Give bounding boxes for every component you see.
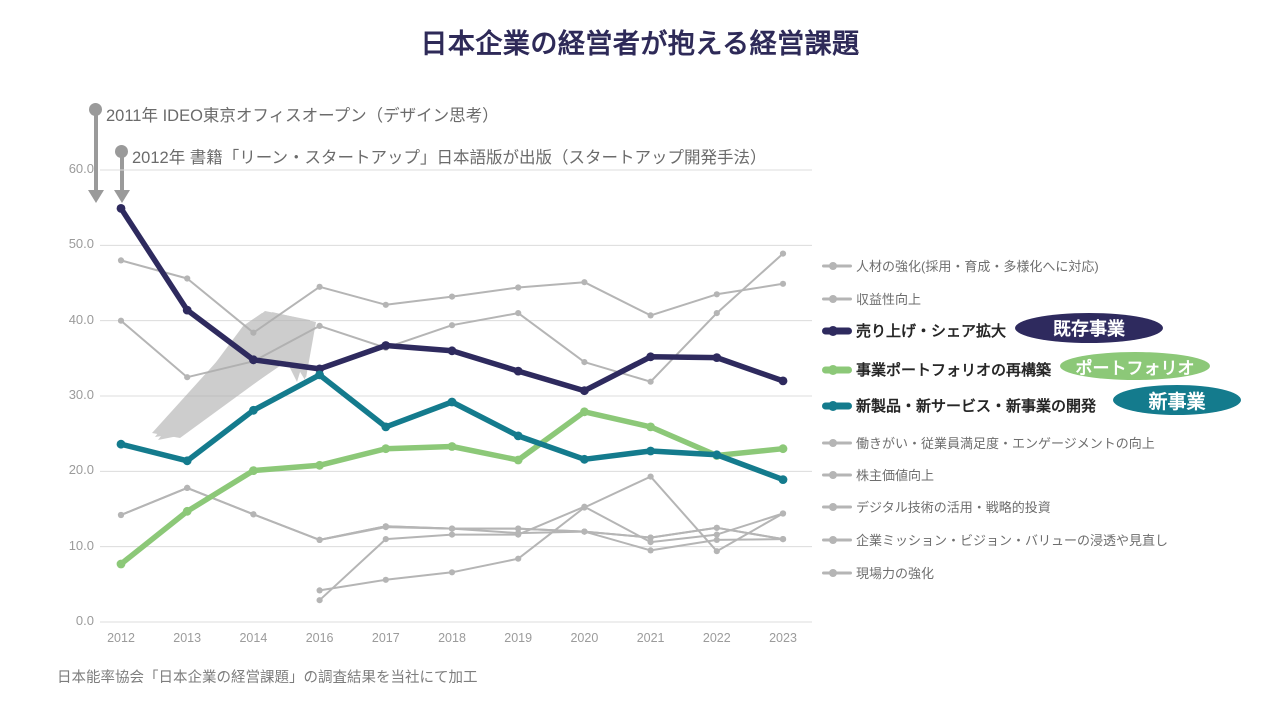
legend-item-kabunushi[interactable]: 株主価値向上 (822, 465, 934, 484)
legend-item-portfolio[interactable]: 事業ポートフォリオの再構築 (822, 359, 1051, 380)
legend-marker-icon (822, 566, 852, 580)
source-footnote: 日本能率協会「日本企業の経営課題」の調査結果を当社にて加工 (57, 666, 478, 687)
y-axis-tick-label: 20.0 (46, 462, 94, 477)
y-axis-tick-label: 40.0 (46, 312, 94, 327)
x-axis-tick-label: 2023 (753, 631, 813, 645)
x-axis-tick-label: 2020 (554, 631, 614, 645)
legend-item-genba[interactable]: 現場力の強化 (822, 563, 934, 582)
badge-portfolio: ポートフォリオ (1060, 352, 1210, 380)
legend-marker-icon (822, 399, 852, 413)
legend-item-label: 現場力の強化 (856, 563, 934, 582)
y-axis-tick-label: 0.0 (46, 613, 94, 628)
legend-marker-icon (822, 533, 852, 547)
x-axis-tick-label: 2018 (422, 631, 482, 645)
legend-item-label: 収益性向上 (856, 289, 921, 308)
legend-item-label: 働きがい・従業員満足度・エンゲージメントの向上 (856, 433, 1155, 452)
x-axis-tick-label: 2019 (488, 631, 548, 645)
legend-item-label: 売り上げ・シェア拡大 (856, 320, 1006, 341)
legend-item-mission[interactable]: 企業ミッション・ビジョン・バリューの浸透や見直し (822, 530, 1168, 549)
x-axis-tick-label: 2017 (356, 631, 416, 645)
x-axis-tick-label: 2013 (157, 631, 217, 645)
legend-item-uriage[interactable]: 売り上げ・シェア拡大 (822, 320, 1006, 341)
y-axis-tick-label: 30.0 (46, 387, 94, 402)
badge-existing-business: 既存事業 (1015, 313, 1163, 343)
legend-marker-icon (822, 324, 852, 338)
x-axis-tick-label: 2022 (687, 631, 747, 645)
legend-marker-icon (822, 259, 852, 273)
legend-item-shinseihin[interactable]: 新製品・新サービス・新事業の開発 (822, 395, 1096, 416)
legend-item-label: 株主価値向上 (856, 465, 934, 484)
legend-item-jinzai[interactable]: 人材の強化(採用・育成・多様化へに対応) (822, 256, 1099, 275)
y-axis-tick-label: 10.0 (46, 538, 94, 553)
grey-series-group (118, 251, 786, 604)
legend-item-digital[interactable]: デジタル技術の活用・戦略的投資 (822, 497, 1051, 516)
y-axis-tick-label: 50.0 (46, 236, 94, 251)
x-axis-tick-label: 2016 (290, 631, 350, 645)
legend-marker-icon (822, 500, 852, 514)
legend-item-label: デジタル技術の活用・戦略的投資 (856, 497, 1051, 516)
badge-new-business: 新事業 (1113, 385, 1241, 415)
x-axis-tick-label: 2021 (621, 631, 681, 645)
x-axis-tick-label: 2014 (223, 631, 283, 645)
y-axis-tick-label: 60.0 (46, 161, 94, 176)
legend-marker-icon (822, 363, 852, 377)
legend-item-shueki[interactable]: 収益性向上 (822, 289, 921, 308)
legend-item-label: 人材の強化(採用・育成・多様化へに対応) (856, 256, 1099, 275)
legend-item-hatarakigai[interactable]: 働きがい・従業員満足度・エンゲージメントの向上 (822, 433, 1155, 452)
legend-marker-icon (822, 468, 852, 482)
legend-marker-icon (822, 292, 852, 306)
legend-item-label: 事業ポートフォリオの再構築 (856, 359, 1051, 380)
legend-marker-icon (822, 436, 852, 450)
x-axis-tick-label: 2012 (91, 631, 151, 645)
legend-item-label: 企業ミッション・ビジョン・バリューの浸透や見直し (856, 530, 1168, 549)
legend-item-label: 新製品・新サービス・新事業の開発 (856, 395, 1096, 416)
growth-arrow (152, 311, 316, 440)
